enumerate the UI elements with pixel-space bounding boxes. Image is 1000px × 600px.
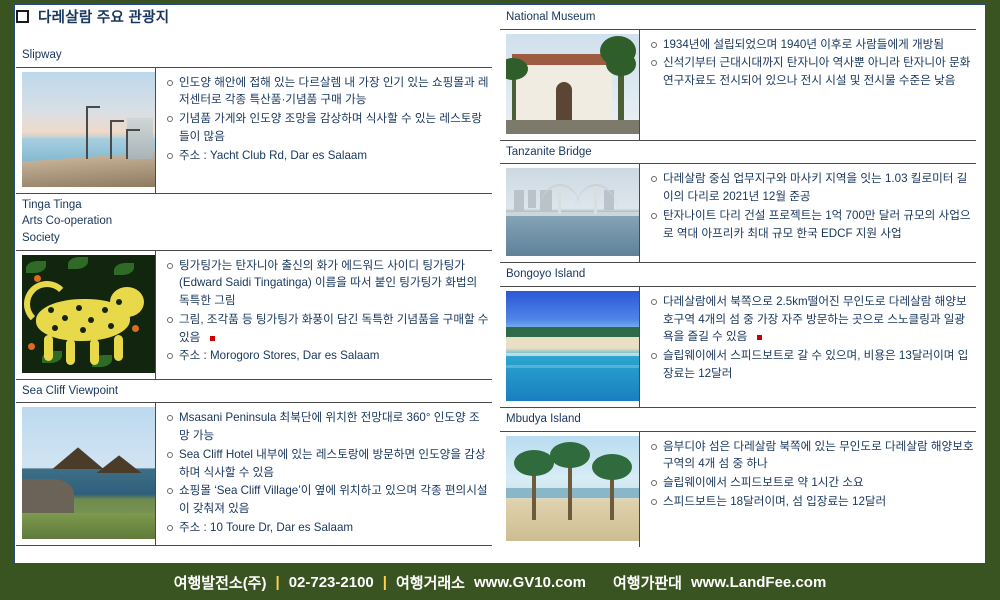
tanzanite-bridge-photo [506, 168, 639, 256]
list-item: 1934년에 설립되었으며 1940년 이후로 사람들에게 개방됨 [650, 36, 974, 54]
bullet-list: 팅가팅가는 탄자니아 출신의 화가 에드워드 사이디 팅가팅가(Edward S… [166, 257, 490, 365]
bongoyo-island-photo [506, 291, 639, 401]
list-item: 슬립웨이에서 스피드보트로 약 1시간 소요 [650, 474, 974, 492]
list-item: Msasani Peninsula 최북단에 위치한 전망대로 360° 인도양… [166, 409, 490, 444]
page-title: 다레살람 주요 관광지 [16, 6, 169, 27]
list-item: 음부디야 섬은 다레살람 북쪽에 있는 무인도로 다레살람 해양보호구역의 4개… [650, 438, 974, 473]
tingatinga-painting-photo [22, 255, 155, 373]
section-text: 다레살람에서 북쪽으로 2.5km떨어진 무인도로 다레살람 해양보호구역 4개… [639, 287, 976, 407]
thumbnail-sea-cliff [16, 403, 155, 545]
footer-separator: | [383, 574, 387, 591]
footer-url-landfee[interactable]: www.LandFee.com [691, 574, 826, 591]
mbudya-island-photo [506, 436, 639, 541]
bullet-list: 음부디야 섬은 다레살람 북쪽에 있는 무인도로 다레살람 해양보호구역의 4개… [650, 438, 974, 511]
bullet-list: 다레살람에서 북쪽으로 2.5km떨어진 무인도로 다레살람 해양보호구역 4개… [650, 293, 974, 383]
section-heading: Tanzanite Bridge [500, 141, 976, 165]
sea-cliff-photo [22, 407, 155, 539]
section-text: Msasani Peninsula 최북단에 위치한 전망대로 360° 인도양… [155, 403, 492, 545]
list-item: 슬립웨이에서 스피드보트로 갈 수 있으며, 비용은 13달러이며 입장료는 1… [650, 347, 974, 382]
list-item: 주소 : 10 Toure Dr, Dar es Salaam [166, 519, 490, 537]
section-heading: Tinga Tinga Arts Co-operation Society [16, 194, 492, 251]
section-tanzanite-bridge: Tanzanite Bridge [500, 141, 976, 264]
footer-company: 여행발전소(주) [174, 572, 267, 593]
section-tinga-tinga: Tinga Tinga Arts Co-operation Society [16, 194, 492, 380]
thumbnail-mbudya-island [500, 432, 639, 547]
section-heading: Bongoyo Island [500, 263, 976, 287]
list-item: 스피드보트는 18달러이며, 섬 입장료는 12달러 [650, 493, 974, 511]
section-text: 1934년에 설립되었으며 1940년 이후로 사람들에게 개방됨 신석기부터 … [639, 30, 976, 140]
section-national-museum: National Museum [500, 6, 976, 141]
footer-bar: 여행발전소(주) | 02-723-2100 | 여행거래소 www.GV10.… [0, 564, 1000, 600]
list-item: 그림, 조각품 등 팅가팅가 화풍이 담긴 독특한 기념품을 구매할 수 있음 [166, 311, 490, 346]
section-mbudya-island: Mbudya Island 음부디야 섬은 다 [500, 408, 976, 547]
section-slipway: Slipway 인도양 해안에 접해 있는 다르살렘 내 가장 인기 있는 쇼핑… [16, 44, 492, 194]
left-column: Slipway 인도양 해안에 접해 있는 다르살렘 내 가장 인기 있는 쇼핑… [16, 44, 492, 546]
square-outline-icon [16, 10, 29, 23]
list-item: 주소 : Morogoro Stores, Dar es Salaam [166, 347, 490, 365]
section-text: 다레살람 중심 업무지구와 마사키 지역을 잇는 1.03 킬로미터 길이의 다… [639, 164, 976, 262]
list-item: 다레살람에서 북쪽으로 2.5km떨어진 무인도로 다레살람 해양보호구역 4개… [650, 293, 974, 346]
section-heading: National Museum [500, 6, 976, 30]
section-sea-cliff-viewpoint: Sea Cliff Viewpoint Msasani Peninsula 최북… [16, 380, 492, 547]
national-museum-photo [506, 34, 639, 134]
red-mark [757, 335, 762, 340]
list-item: 탄자나이트 다리 건설 프로젝트는 1억 700만 달러 규모의 사업으로 역대… [650, 207, 974, 242]
list-item: 신석기부터 근대시대까지 탄자니아 역사뿐 아니라 탄자니아 문화 연구자료도 … [650, 54, 974, 89]
list-item: 인도양 해안에 접해 있는 다르살렘 내 가장 인기 있는 쇼핑몰과 레저센터로… [166, 74, 490, 109]
footer-url-gv10[interactable]: www.GV10.com [474, 574, 586, 591]
section-bongoyo-island: Bongoyo Island 다레살람에서 북쪽으로 2.5km떨어진 무인도로… [500, 263, 976, 408]
footer-label-landfee: 여행가판대 [613, 572, 682, 593]
bullet-list: 인도양 해안에 접해 있는 다르살렘 내 가장 인기 있는 쇼핑몰과 레저센터로… [166, 74, 490, 165]
bullet-list: 다레살람 중심 업무지구와 마사키 지역을 잇는 1.03 킬로미터 길이의 다… [650, 170, 974, 242]
list-item: 팅가팅가는 탄자니아 출신의 화가 에드워드 사이디 팅가팅가(Edward S… [166, 257, 490, 310]
list-item: 다레살람 중심 업무지구와 마사키 지역을 잇는 1.03 킬로미터 길이의 다… [650, 170, 974, 205]
list-item: 주소 : Yacht Club Rd, Dar es Salaam [166, 147, 490, 165]
list-item: 기념품 가게와 인도양 조망을 감상하며 식사할 수 있는 레스토랑들이 많음 [166, 110, 490, 145]
section-text: 인도양 해안에 접해 있는 다르살렘 내 가장 인기 있는 쇼핑몰과 레저센터로… [155, 68, 492, 193]
thumbnail-national-museum [500, 30, 639, 140]
footer-phone: 02-723-2100 [289, 574, 374, 591]
thumbnail-bongoyo-island [500, 287, 639, 407]
slide-root: 다레살람 주요 관광지 Slipway 인도양 해안에 접해 있는 다르살렘 내… [0, 0, 1000, 600]
section-heading: Mbudya Island [500, 408, 976, 432]
section-heading: Slipway [16, 44, 492, 68]
list-item: Sea Cliff Hotel 내부에 있는 레스토랑에 방문하면 인도양을 감… [166, 446, 490, 481]
red-mark [210, 336, 215, 341]
bullet-list: 1934년에 설립되었으며 1940년 이후로 사람들에게 개방됨 신석기부터 … [650, 36, 974, 90]
section-heading: Sea Cliff Viewpoint [16, 380, 492, 404]
thumbnail-tinga-tinga [16, 251, 155, 379]
footer-separator: | [275, 574, 279, 591]
slipway-photo [22, 72, 155, 187]
right-column: National Museum [500, 6, 976, 547]
bullet-list: Msasani Peninsula 최북단에 위치한 전망대로 360° 인도양… [166, 409, 490, 536]
section-text: 음부디야 섬은 다레살람 북쪽에 있는 무인도로 다레살람 해양보호구역의 4개… [639, 432, 976, 547]
page-title-text: 다레살람 주요 관광지 [38, 6, 169, 27]
thumbnail-slipway [16, 68, 155, 193]
thumbnail-tanzanite-bridge [500, 164, 639, 262]
list-item: 쇼핑몰 ‘Sea Cliff Village’이 옆에 위치하고 있으며 각종 … [166, 482, 490, 517]
section-text: 팅가팅가는 탄자니아 출신의 화가 에드워드 사이디 팅가팅가(Edward S… [155, 251, 492, 379]
footer-label-gv10: 여행거래소 [396, 572, 465, 593]
section-divider [16, 545, 492, 546]
